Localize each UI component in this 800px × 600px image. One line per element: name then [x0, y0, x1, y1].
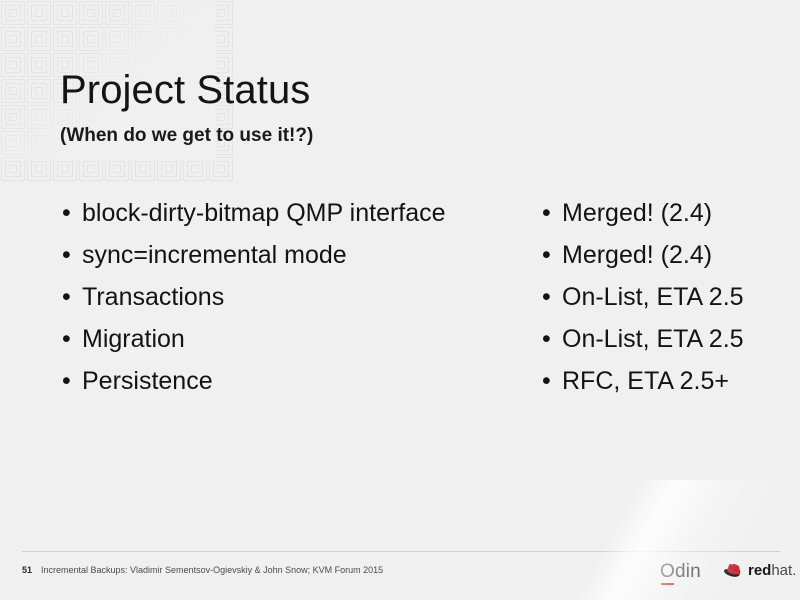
redhat-logo-text: redhat.: [748, 563, 796, 579]
pattern-cell: [208, 0, 234, 26]
pattern-cell: [104, 0, 130, 26]
status-item: •Merged! (2.4): [540, 198, 795, 240]
bullet-point-icon: •: [62, 240, 71, 270]
feature-label: sync=incremental mode: [82, 241, 347, 269]
pattern-cell: [0, 130, 26, 156]
pattern-cell: [130, 0, 156, 26]
status-item: •RFC, ETA 2.5+: [540, 366, 795, 408]
redhat-logo: redhat.: [724, 561, 792, 585]
pattern-cell: [52, 26, 78, 52]
bullet-point-icon: •: [62, 198, 71, 228]
status-label: Merged! (2.4): [562, 199, 712, 227]
slide-subtitle: (When do we get to use it!?): [60, 126, 313, 145]
feature-label: block-dirty-bitmap QMP interface: [82, 199, 446, 227]
pattern-cell: [208, 156, 234, 182]
pattern-cell: [182, 0, 208, 26]
status-item: •Merged! (2.4): [540, 240, 795, 282]
pattern-cell: [26, 130, 52, 156]
pattern-cell: [26, 26, 52, 52]
page-number: 51: [22, 564, 32, 576]
feature-list: •block-dirty-bitmap QMP interface•sync=i…: [60, 198, 530, 408]
status-list: •Merged! (2.4)•Merged! (2.4)•On-List, ET…: [540, 198, 795, 408]
right-column: •Merged! (2.4)•Merged! (2.4)•On-List, ET…: [540, 198, 795, 408]
pattern-cell: [52, 156, 78, 182]
bullet-point-icon: •: [62, 324, 71, 354]
feature-item: •Transactions: [60, 282, 530, 324]
redhat-shadowman-icon: [724, 562, 745, 580]
pattern-cell: [208, 26, 234, 52]
status-label: Merged! (2.4): [562, 241, 712, 269]
bullet-point-icon: •: [542, 240, 551, 270]
left-column: •block-dirty-bitmap QMP interface•sync=i…: [60, 198, 530, 408]
pattern-cell: [78, 26, 104, 52]
feature-item: •sync=incremental mode: [60, 240, 530, 282]
pattern-cell: [26, 104, 52, 130]
odin-logo: Odin: [660, 562, 716, 588]
pattern-cell: [130, 156, 156, 182]
status-label: RFC, ETA 2.5+: [562, 367, 729, 395]
pattern-cell: [156, 156, 182, 182]
bullet-point-icon: •: [542, 198, 551, 228]
status-label: On-List, ETA 2.5: [562, 283, 744, 311]
pattern-cell: [78, 0, 104, 26]
pattern-cell: [0, 156, 26, 182]
feature-item: •block-dirty-bitmap QMP interface: [60, 198, 530, 240]
pattern-cell: [156, 26, 182, 52]
pattern-cell: [0, 78, 26, 104]
pattern-cell: [104, 156, 130, 182]
pattern-cell: [78, 156, 104, 182]
redhat-logo-text-bold: red: [748, 562, 771, 579]
pattern-cell: [26, 0, 52, 26]
feature-item: •Persistence: [60, 366, 530, 408]
redhat-logo-text-light: hat.: [771, 562, 796, 579]
pattern-cell: [0, 26, 26, 52]
bullet-point-icon: •: [542, 366, 551, 396]
pattern-cell: [0, 0, 26, 26]
slide-title: Project Status: [60, 70, 310, 110]
status-label: On-List, ETA 2.5: [562, 325, 744, 353]
pattern-cell: [26, 78, 52, 104]
odin-logo-text: Odin: [660, 562, 716, 582]
pattern-cell: [52, 0, 78, 26]
feature-label: Persistence: [82, 367, 213, 395]
presentation-slide: Project Status (When do we get to use it…: [0, 0, 800, 600]
pattern-cell: [0, 52, 26, 78]
feature-label: Migration: [82, 325, 185, 353]
bullet-point-icon: •: [542, 282, 551, 312]
bullet-point-icon: •: [62, 366, 71, 396]
pattern-cell: [130, 26, 156, 52]
pattern-cell: [0, 104, 26, 130]
pattern-cell: [182, 156, 208, 182]
bullet-point-icon: •: [542, 324, 551, 354]
footer-divider: [22, 551, 780, 552]
status-item: •On-List, ETA 2.5: [540, 324, 795, 366]
pattern-cell: [26, 52, 52, 78]
pattern-cell: [104, 26, 130, 52]
pattern-cell: [156, 0, 182, 26]
bullet-point-icon: •: [62, 282, 71, 312]
status-item: •On-List, ETA 2.5: [540, 282, 795, 324]
odin-logo-accent-underline: [661, 583, 674, 585]
feature-label: Transactions: [82, 283, 224, 311]
pattern-cell: [182, 26, 208, 52]
pattern-cell: [26, 156, 52, 182]
footer-credit: Incremental Backups: Vladimir Sementsov-…: [41, 564, 383, 576]
feature-item: •Migration: [60, 324, 530, 366]
